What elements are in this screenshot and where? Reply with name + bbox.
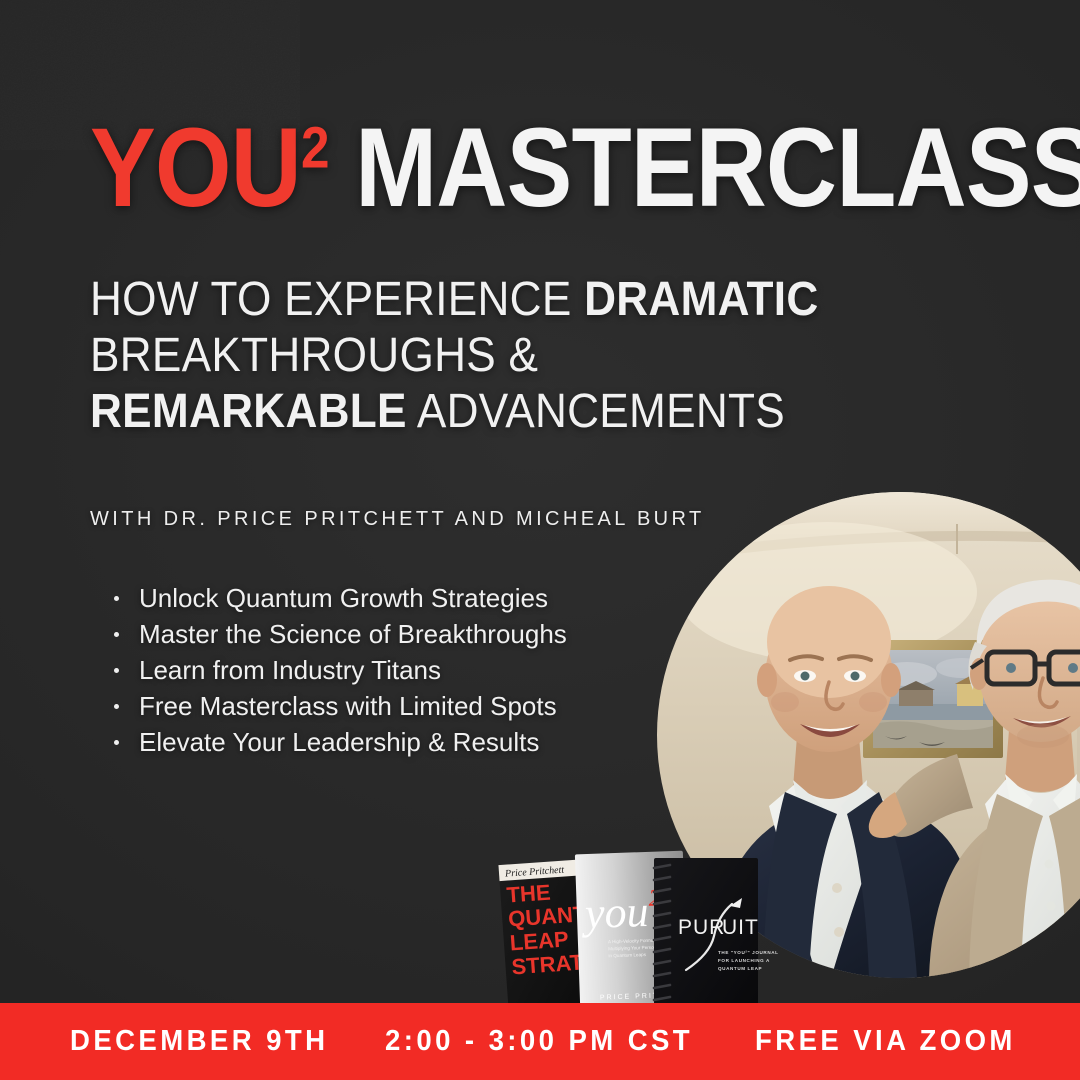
- title-brand: YOU: [90, 105, 301, 230]
- subhead-line-2: BREAKTHROUGHS &: [90, 328, 789, 384]
- subhead-line-3: REMARKABLE ADVANCEMENTS: [90, 384, 789, 440]
- page-title: YOU2 MASTERCLASS: [90, 112, 1080, 224]
- list-item: Elevate Your Leadership & Results: [112, 724, 567, 760]
- subhead-line-1-normal: HOW TO EXPERIENCE: [90, 273, 584, 326]
- svg-text:UIT: UIT: [722, 916, 759, 939]
- svg-text:STRAT: STRAT: [511, 949, 585, 979]
- event-access: FREE VIA ZOOM: [755, 1025, 1016, 1058]
- book-pursuit-journal: PUR UIT THE "YOU²" JOURNAL FOR LAUNCHING…: [654, 858, 783, 1018]
- list-item: Unlock Quantum Growth Strategies: [112, 580, 567, 616]
- list-item: Master the Science of Breakthroughs: [112, 616, 567, 652]
- title-masterclass: MASTERCLASS: [355, 105, 1080, 230]
- svg-text:THE "YOU²" JOURNAL: THE "YOU²" JOURNAL: [718, 950, 779, 955]
- event-date: DECEMBER 9TH: [70, 1025, 328, 1058]
- svg-text:FOR LAUNCHING A: FOR LAUNCHING A: [718, 958, 770, 963]
- subhead-line-3-normal: ADVANCEMENTS: [407, 385, 785, 438]
- event-details-bar: DECEMBER 9TH 2:00 - 3:00 PM CST FREE VIA…: [0, 1003, 1080, 1080]
- event-time: 2:00 - 3:00 PM CST: [385, 1025, 693, 1058]
- svg-text:you: you: [580, 887, 649, 938]
- list-item: Free Masterclass with Limited Spots: [112, 688, 567, 724]
- list-item: Learn from Industry Titans: [112, 652, 567, 688]
- svg-text:PUR: PUR: [678, 916, 725, 939]
- subhead-line-1-bold: DRAMATIC: [584, 273, 818, 326]
- title-superscript: 2: [301, 116, 329, 181]
- subhead-line-1: HOW TO EXPERIENCE DRAMATIC: [90, 272, 789, 328]
- subheadline: HOW TO EXPERIENCE DRAMATIC BREAKTHROUGHS…: [90, 272, 850, 440]
- presenters-line: WITH DR. PRICE PRITCHETT AND MICHEAL BUR…: [90, 508, 705, 531]
- subhead-line-3-bold: REMARKABLE: [90, 385, 407, 438]
- svg-text:QUANTUM LEAP: QUANTUM LEAP: [718, 966, 762, 971]
- benefits-list: Unlock Quantum Growth Strategies Master …: [112, 580, 567, 760]
